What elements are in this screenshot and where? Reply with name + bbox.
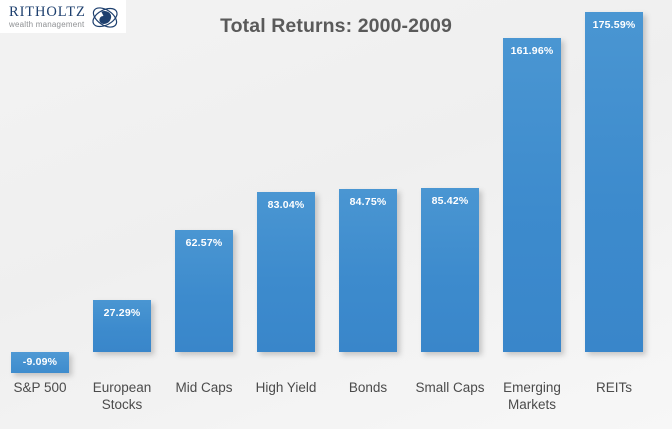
chart-container: RITHOLTZ wealth management Total Returns… [0,0,672,429]
bar[interactable]: 27.29% [93,300,151,352]
bar-group-mid-caps: 62.57% Mid Caps [164,0,244,429]
bar-group-sp500: -9.09% S&P 500 [0,0,80,429]
brand-logo: RITHOLTZ wealth management [0,0,126,33]
category-label: REITs [568,379,660,396]
category-label: Small Caps [404,379,496,396]
bar-group-bonds: 84.75% Bonds [328,0,408,429]
plot-area: -9.09% S&P 500 27.29% European Stocks 62… [0,0,672,429]
brand-logo-inner: RITHOLTZ wealth management [9,5,125,31]
bar[interactable]: 175.59% [585,12,643,352]
bar-value-label: 175.59% [585,19,643,31]
bar[interactable]: 83.04% [257,192,315,352]
category-label: Mid Caps [158,379,250,396]
bar[interactable]: 161.96% [503,38,561,352]
bar[interactable]: 62.57% [175,230,233,352]
category-label: European Stocks [76,379,168,413]
bar-value-label: 62.57% [175,237,233,249]
bar[interactable]: -9.09% [11,352,69,373]
bar-value-label: 85.42% [421,195,479,207]
category-label: S&P 500 [0,379,86,396]
bar-group-european-stocks: 27.29% European Stocks [82,0,162,429]
bar-value-label: 84.75% [339,196,397,208]
bar[interactable]: 85.42% [421,188,479,352]
category-label: Emerging Markets [486,379,578,413]
bar-group-reits: 175.59% REITs [574,0,654,429]
bar-group-small-caps: 85.42% Small Caps [410,0,490,429]
bar-value-label: -9.09% [11,356,69,368]
category-label: High Yield [240,379,332,396]
bar-value-label: 83.04% [257,199,315,211]
category-label: Bonds [322,379,414,396]
ritholtz-swirl-icon [90,4,120,31]
bar-group-high-yield: 83.04% High Yield [246,0,326,429]
bar-value-label: 27.29% [93,307,151,319]
bar-value-label: 161.96% [503,45,561,57]
bar-group-emerging-markets: 161.96% Emerging Markets [492,0,572,429]
bar[interactable]: 84.75% [339,189,397,352]
